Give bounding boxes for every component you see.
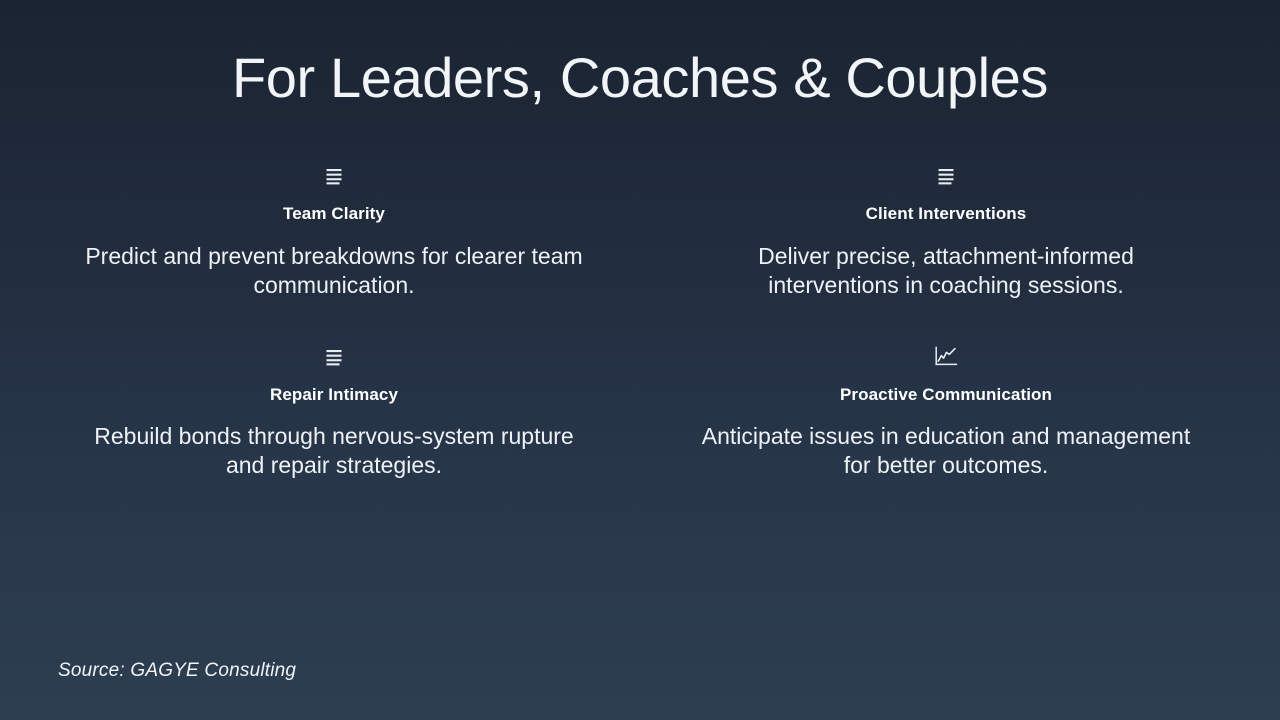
feature-card-team-clarity: Team Clarity Predict and prevent breakdo… <box>28 162 640 300</box>
feature-card-description: Anticipate issues in education and manag… <box>696 422 1196 481</box>
title-container: For Leaders, Coaches & Couples <box>0 0 1280 110</box>
feature-card-description: Predict and prevent breakdowns for clear… <box>84 242 584 301</box>
feature-card-grid: Team Clarity Predict and prevent breakdo… <box>0 162 1280 481</box>
list-lines-icon <box>936 162 956 190</box>
feature-card-proactive-communication: Proactive Communication Anticipate issue… <box>640 343 1252 481</box>
feature-card-description: Deliver precise, attachment-informed int… <box>696 242 1196 301</box>
slide-root: For Leaders, Coaches & Couples Team Clar… <box>0 0 1280 720</box>
list-lines-icon <box>324 343 344 371</box>
source-attribution: Source: GAGYE Consulting <box>58 660 296 682</box>
feature-card-description: Rebuild bonds through nervous-system rup… <box>84 422 584 481</box>
feature-card-title: Team Clarity <box>283 204 385 224</box>
feature-card-repair-intimacy: Repair Intimacy Rebuild bonds through ne… <box>28 343 640 481</box>
line-chart-trending-up-icon <box>934 343 958 371</box>
feature-card-title: Proactive Communication <box>840 385 1052 405</box>
feature-card-client-interventions: Client Interventions Deliver precise, at… <box>640 162 1252 300</box>
page-title: For Leaders, Coaches & Couples <box>0 46 1280 110</box>
feature-card-title: Repair Intimacy <box>270 385 398 405</box>
list-lines-icon <box>324 162 344 190</box>
feature-card-title: Client Interventions <box>866 204 1027 224</box>
